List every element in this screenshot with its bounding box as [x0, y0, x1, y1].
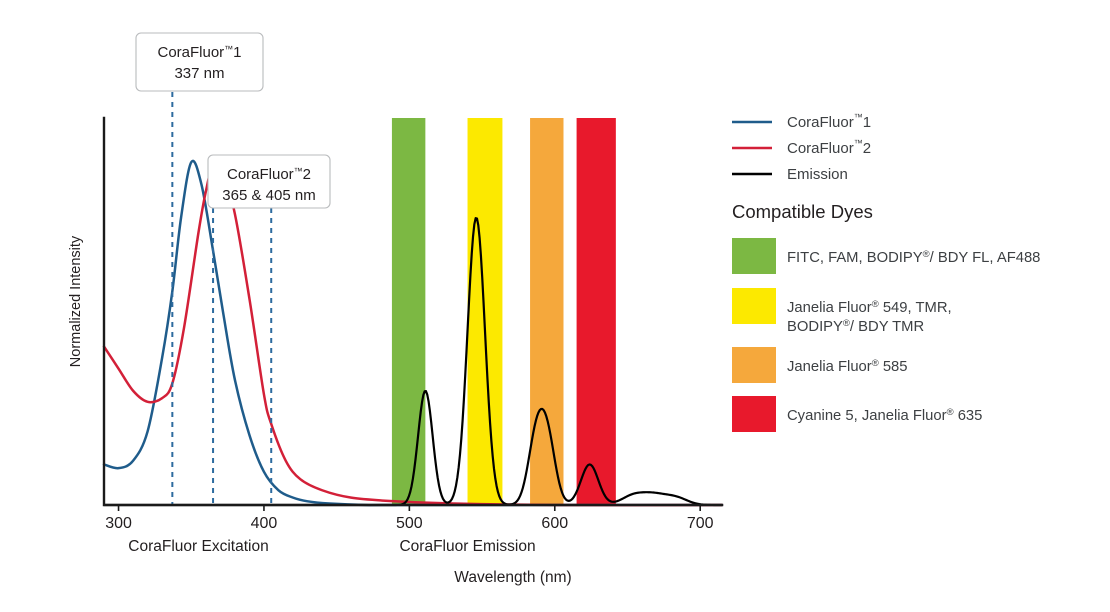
compatible-dyes-heading: Compatible Dyes: [732, 201, 873, 222]
dye-row-4[interactable]: Cyanine 5, Janelia Fluor® 635: [732, 396, 982, 432]
dye-row-3[interactable]: Janelia Fluor® 585: [732, 347, 908, 383]
xtick-label-500: 500: [396, 515, 423, 532]
dye-label-4-line-1: Cyanine 5, Janelia Fluor® 635: [787, 407, 982, 425]
dye-row-1[interactable]: FITC, FAM, BODIPY®/ BDY FL, AF488: [732, 238, 1040, 274]
corafluor1-callout-line-2: 337 nm: [174, 65, 224, 82]
corafluor1-callout-box: [136, 33, 263, 91]
dye-swatch-1: [732, 238, 776, 274]
xtick-label-400: 400: [251, 515, 278, 532]
callout-labels-group: CoraFluor™1337 nmCoraFluor™2365 & 405 nm: [136, 33, 330, 208]
legend-label-1: CoraFluor™1: [787, 112, 871, 131]
legend-item-1[interactable]: CoraFluor™1: [732, 112, 871, 131]
section-caption-excitation: CoraFluor Excitation: [128, 538, 268, 555]
corafluor2-callout: CoraFluor™2365 & 405 nm: [208, 155, 330, 208]
red-band: [577, 118, 616, 505]
dye-label-3-line-1: Janelia Fluor® 585: [787, 358, 908, 376]
legend-label-3: Emission: [787, 166, 848, 183]
x-axis-title: Wavelength (nm): [454, 569, 571, 586]
y-axis-title: Normalized Intensity: [68, 235, 84, 367]
orange-band: [530, 118, 563, 505]
xtick-label-700: 700: [687, 515, 714, 532]
dye-swatch-3: [732, 347, 776, 383]
section-caption-emission: CoraFluor Emission: [399, 538, 535, 555]
dye-label-1-line-1: FITC, FAM, BODIPY®/ BDY FL, AF488: [787, 249, 1040, 267]
xtick-label-600: 600: [541, 515, 568, 532]
dye-row-2[interactable]: Janelia Fluor® 549, TMR,BODIPY®/ BDY TMR: [732, 288, 952, 335]
spectra-figure: 300400500600700CoraFluor ExcitationCoraF…: [0, 0, 1110, 612]
dye-swatch-2: [732, 288, 776, 324]
legend-group: CoraFluor™1CoraFluor™2Emission: [732, 112, 871, 183]
xtick-label-300: 300: [105, 515, 132, 532]
legend-label-2: CoraFluor™2: [787, 138, 871, 157]
dye-label-2-line-1: Janelia Fluor® 549, TMR,: [787, 299, 952, 317]
corafluor2-callout-line-2: 365 & 405 nm: [222, 187, 315, 204]
legend-item-3[interactable]: Emission: [732, 166, 848, 183]
corafluor1-callout: CoraFluor™1337 nm: [136, 33, 263, 91]
emission-bands-group: [392, 118, 616, 505]
compatible-dyes-panel: Compatible DyesFITC, FAM, BODIPY®/ BDY F…: [732, 201, 1040, 432]
dye-swatch-4: [732, 396, 776, 432]
dye-label-2-line-2: BODIPY®/ BDY TMR: [787, 318, 924, 336]
legend-item-2[interactable]: CoraFluor™2: [732, 138, 871, 157]
green-band: [392, 118, 425, 505]
